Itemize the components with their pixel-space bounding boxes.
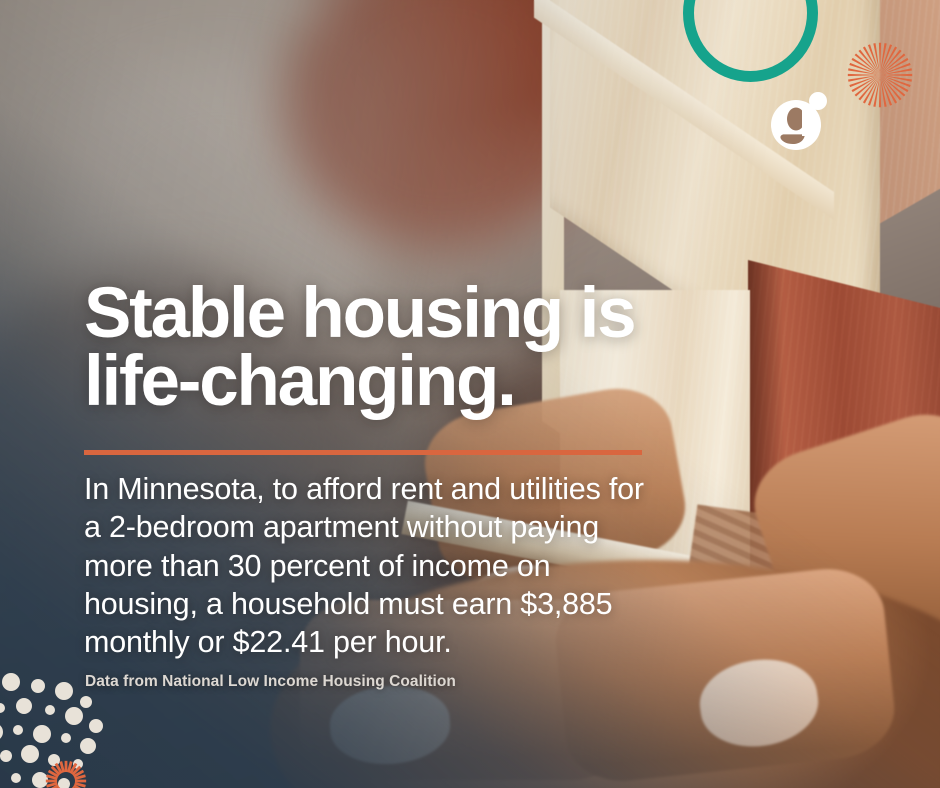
headline-line-2: life-changing. — [84, 348, 764, 416]
headline-line-1: Stable housing is — [84, 280, 764, 348]
body-line-1: In Minnesota, to afford rent and utiliti… — [84, 470, 724, 508]
poster-canvas: Stable housing is life-changing. In Minn… — [0, 0, 940, 788]
headline: Stable housing is life-changing. — [84, 280, 764, 416]
body-line-4: housing, a household must earn $3,885 — [84, 585, 724, 623]
body-line-5: monthly or $22.41 per hour. — [84, 623, 724, 661]
body-line-3: more than 30 percent of income on — [84, 547, 724, 585]
body-copy: In Minnesota, to afford rent and utiliti… — [84, 470, 724, 661]
body-line-2: a 2-bedroom apartment without paying — [84, 508, 724, 546]
data-source-attribution: Data from National Low Income Housing Co… — [85, 673, 456, 691]
accent-divider-rule — [84, 450, 642, 455]
poster-content: Stable housing is life-changing. In Minn… — [0, 0, 940, 788]
